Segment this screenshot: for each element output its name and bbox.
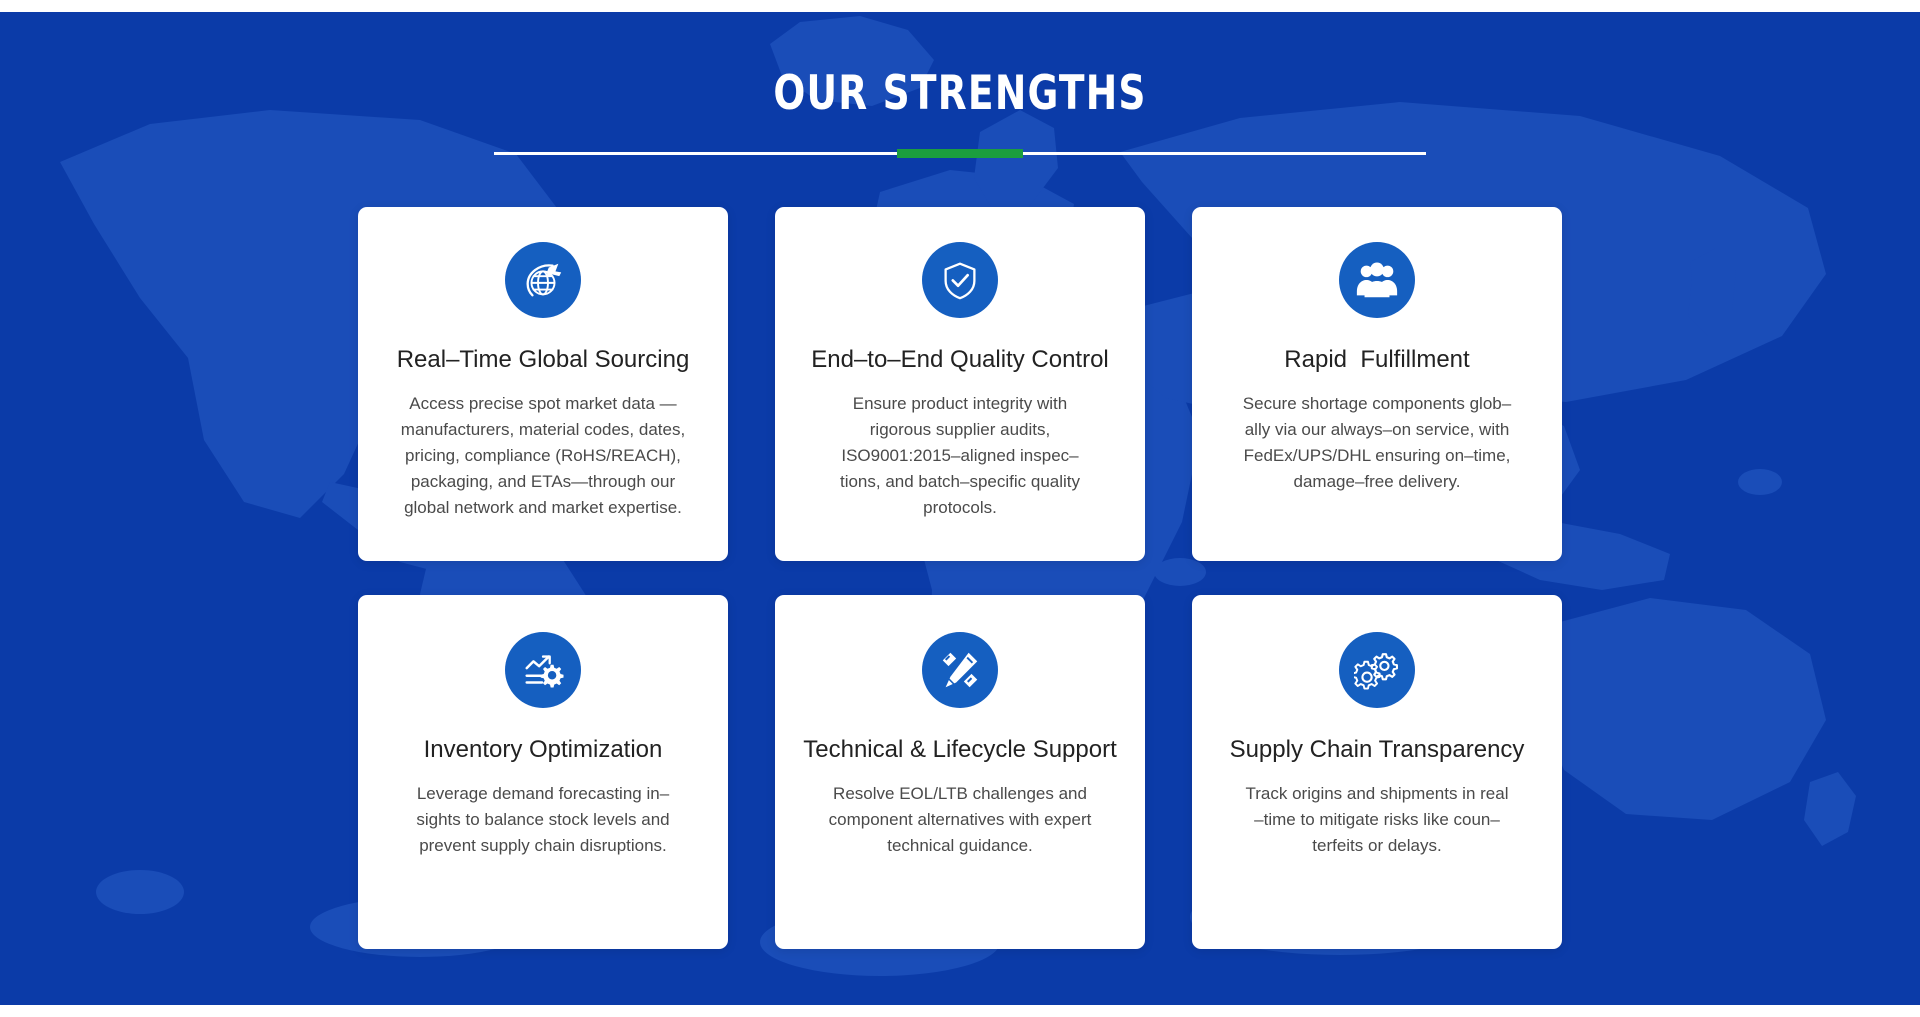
card-title: Inventory Optimization: [424, 736, 663, 765]
strengths-card-grid: Real–Time Global Sourcing Access precise…: [358, 207, 1562, 949]
our-strengths-section: OUR STRENGTHS Real–Time Global Sourcing …: [0, 12, 1920, 1005]
globe-airplane-icon: [505, 242, 581, 318]
card-description: Access precise spot market data — manufa…: [401, 391, 685, 521]
strength-card-inventory-optimization[interactable]: Inventory Optimization Leverage demand f…: [358, 595, 728, 949]
card-description: Leverage demand forecasting in– sights t…: [416, 781, 669, 859]
chart-gear-icon: [505, 632, 581, 708]
strength-card-supply-chain-transparency[interactable]: Supply Chain Transparency Track origins …: [1192, 595, 1562, 949]
divider-accent-bar: [897, 149, 1023, 158]
title-divider: [494, 152, 1426, 155]
section-header: OUR STRENGTHS: [0, 12, 1920, 155]
page-title: OUR STRENGTHS: [192, 70, 1728, 117]
strength-card-rapid-fulfillment[interactable]: Rapid Fulfillment Secure shortage compon…: [1192, 207, 1562, 561]
card-description: Secure shortage components glob– ally vi…: [1243, 391, 1511, 495]
card-title: Rapid Fulfillment: [1284, 346, 1469, 375]
strength-card-end-to-end-quality-control[interactable]: End–to–End Quality Control Ensure produc…: [775, 207, 1145, 561]
people-team-icon: [1339, 242, 1415, 318]
card-title: Supply Chain Transparency: [1230, 736, 1525, 765]
card-title: End–to–End Quality Control: [811, 346, 1109, 375]
card-description: Ensure product integrity with rigorous s…: [840, 391, 1080, 521]
strength-card-technical-lifecycle-support[interactable]: Technical & Lifecycle Support Resolve EO…: [775, 595, 1145, 949]
pencil-ruler-icon: [922, 632, 998, 708]
card-description: Track origins and shipments in real –tim…: [1246, 781, 1509, 859]
strength-card-real-time-global-sourcing[interactable]: Real–Time Global Sourcing Access precise…: [358, 207, 728, 561]
gears-icon: [1339, 632, 1415, 708]
card-title: Technical & Lifecycle Support: [803, 736, 1117, 765]
card-title: Real–Time Global Sourcing: [397, 346, 690, 375]
shield-check-icon: [922, 242, 998, 318]
card-description: Resolve EOL/LTB challenges and component…: [829, 781, 1092, 859]
